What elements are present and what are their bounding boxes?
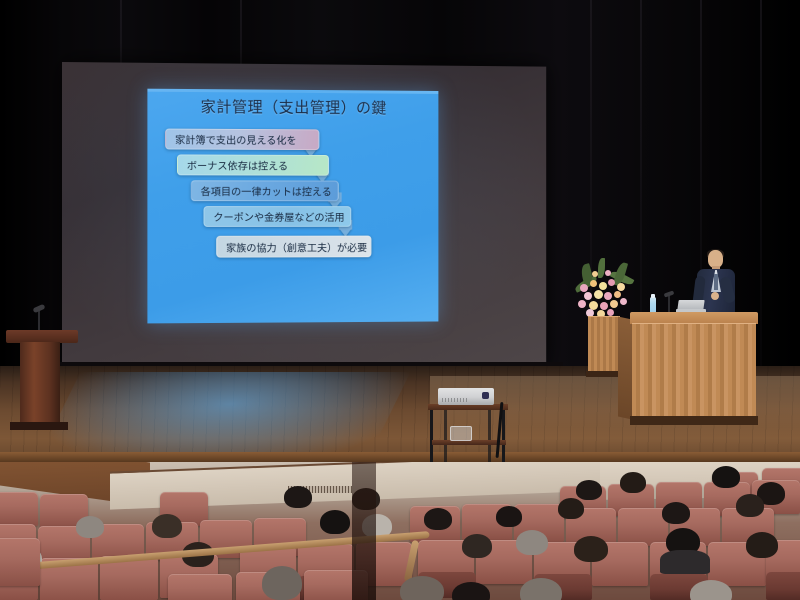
audience-head	[424, 508, 452, 530]
floral-arrangement	[572, 258, 634, 320]
slide-flow-item-3: 各項目の一律カットは控える	[191, 180, 339, 201]
podium-front-panel	[632, 323, 756, 417]
aisle-shadow	[352, 462, 376, 600]
audience-head	[662, 502, 690, 524]
audience-seating-area	[0, 462, 800, 600]
audience-head	[690, 580, 732, 600]
slide-flow-item-2: ボーナス依存は控える	[177, 154, 329, 175]
slide-flow-item-4: クーポンや金券屋などの活用	[204, 206, 352, 227]
storage-container	[450, 426, 472, 441]
audience-shoulders	[660, 550, 710, 574]
seat	[168, 574, 232, 600]
audience-head	[746, 532, 778, 558]
podium-base	[630, 416, 758, 425]
video-projector	[438, 388, 494, 405]
auditorium-photo: 家計管理（支出管理）の鍵 家計簿で支出の見える化を ボーナス依存は控える 各項目…	[0, 0, 800, 600]
audience-head	[574, 536, 608, 562]
audience-head	[558, 498, 584, 519]
lectern-foot	[10, 422, 68, 430]
flower-pedestal	[586, 316, 622, 378]
audience-head	[76, 516, 104, 538]
audience-head	[736, 494, 764, 517]
lectern-body	[20, 342, 60, 426]
projector-light-spill	[36, 372, 411, 464]
audience-head	[262, 566, 302, 600]
audience-head	[462, 534, 492, 558]
slide-title: 家計管理（支出管理）の鍵	[147, 95, 438, 119]
podium-side	[618, 317, 632, 420]
seat	[0, 492, 38, 526]
audience-head	[712, 466, 740, 488]
presentation-slide: 家計管理（支出管理）の鍵 家計簿で支出の見える化を ボーナス依存は控える 各項目…	[147, 89, 438, 324]
audience-head	[520, 578, 562, 600]
speaker-podium	[630, 312, 758, 428]
audience-head	[284, 486, 312, 508]
projector-lens-icon	[482, 392, 489, 399]
presenter-tie	[714, 274, 718, 290]
slide-flow-item-1: 家計簿で支出の見える化を	[165, 129, 319, 151]
seat	[618, 508, 668, 546]
projector-cart	[428, 388, 512, 470]
audience-head	[452, 582, 490, 600]
audience-head	[496, 506, 522, 527]
audience-head	[620, 472, 646, 493]
audience-head	[320, 510, 350, 534]
audience-head	[152, 514, 182, 538]
presenter-hand	[711, 292, 719, 300]
audience-head	[400, 576, 444, 600]
left-lectern	[6, 330, 78, 426]
seat	[0, 538, 40, 586]
slide-flow-item-5: 家族の協力（創意工夫）が必要	[216, 236, 371, 258]
seat-lower	[766, 572, 800, 600]
audience-head	[516, 530, 548, 555]
projection-screen: 家計管理（支出管理）の鍵 家計簿で支出の見える化を ボーナス依存は控える 各項目…	[62, 62, 546, 370]
audience-head	[576, 480, 602, 500]
